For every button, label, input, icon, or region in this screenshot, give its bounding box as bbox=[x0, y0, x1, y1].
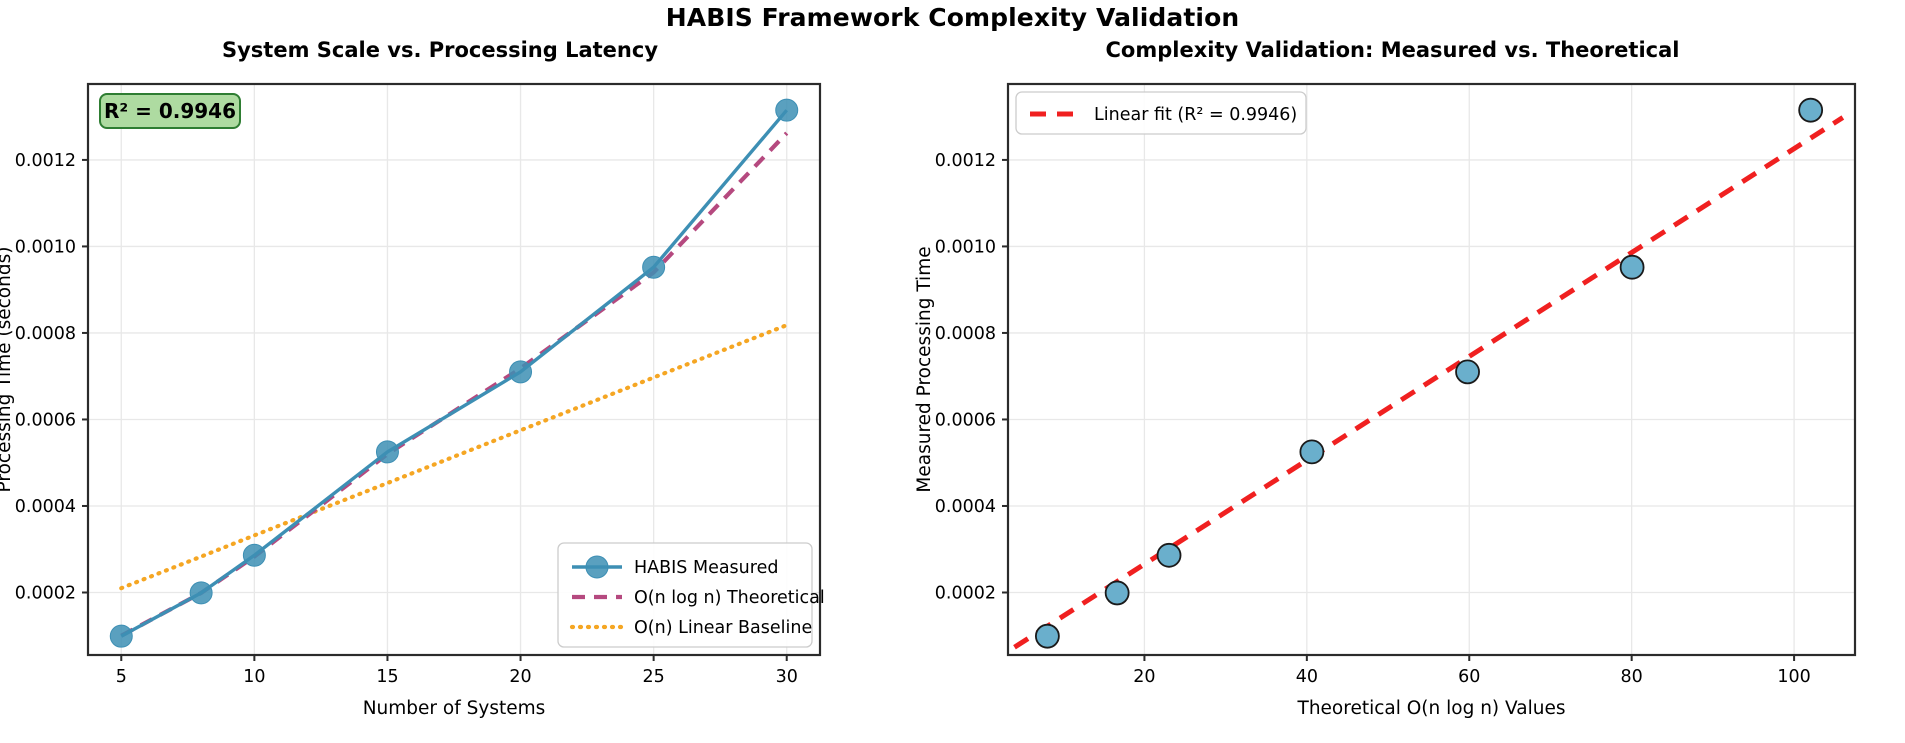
y-tick-label: 0.0006 bbox=[15, 410, 76, 430]
x-tick-label: 40 bbox=[1296, 667, 1318, 687]
figure-suptitle: HABIS Framework Complexity Validation bbox=[0, 0, 1905, 34]
x-tick-label: 80 bbox=[1621, 667, 1643, 687]
x-axis-label: Theoretical O(n log n) Values bbox=[1297, 698, 1566, 719]
y-tick-label: 0.0006 bbox=[935, 410, 996, 430]
legend-label: O(n) Linear Baseline bbox=[634, 618, 812, 638]
left-plot-svg: 510152025300.00020.00040.00060.00080.001… bbox=[0, 34, 880, 743]
x-tick-label: 20 bbox=[1133, 667, 1155, 687]
data-point-marker bbox=[1106, 581, 1129, 604]
y-tick-label: 0.0004 bbox=[935, 497, 996, 517]
legend-label: HABIS Measured bbox=[634, 558, 778, 578]
x-tick-label: 15 bbox=[376, 667, 398, 687]
right-legend: Linear fit (R² = 0.9946) bbox=[1016, 92, 1306, 134]
data-point-marker bbox=[1799, 99, 1822, 122]
y-tick-label: 0.0002 bbox=[15, 583, 76, 603]
right-subplot: Complexity Validation: Measured vs. Theo… bbox=[880, 34, 1905, 743]
data-point-marker bbox=[1158, 544, 1181, 567]
y-tick-label: 0.0008 bbox=[15, 324, 76, 344]
r2-annotation: R² = 0.9946 bbox=[100, 94, 240, 128]
y-tick-label: 0.0002 bbox=[935, 583, 996, 603]
x-tick-label: 20 bbox=[509, 667, 531, 687]
data-point-marker bbox=[1300, 440, 1323, 463]
x-tick-label: 100 bbox=[1777, 667, 1810, 687]
data-point-marker bbox=[1456, 360, 1479, 383]
legend-label: O(n log n) Theoretical bbox=[634, 588, 825, 608]
y-axis-label: Measured Processing Time bbox=[914, 246, 935, 492]
y-tick-label: 0.0012 bbox=[935, 151, 996, 171]
x-tick-label: 25 bbox=[642, 667, 664, 687]
y-tick-label: 0.0010 bbox=[15, 237, 76, 257]
x-tick-label: 10 bbox=[243, 667, 265, 687]
x-tick-label: 30 bbox=[776, 667, 798, 687]
x-tick-label: 5 bbox=[116, 667, 127, 687]
data-point-marker bbox=[243, 544, 265, 566]
r2-annotation-label: R² = 0.9946 bbox=[104, 99, 236, 123]
y-tick-label: 0.0004 bbox=[15, 497, 76, 517]
data-point-marker bbox=[1621, 256, 1644, 279]
x-tick-label: 60 bbox=[1458, 667, 1480, 687]
data-point-marker bbox=[190, 582, 212, 604]
x-axis-label: Number of Systems bbox=[363, 698, 546, 719]
y-tick-label: 0.0012 bbox=[15, 151, 76, 171]
y-axis-label: Processing Time (seconds) bbox=[0, 247, 15, 493]
legend-marker-measured bbox=[586, 556, 608, 578]
left-legend: HABIS MeasuredO(n log n) TheoreticalO(n)… bbox=[558, 543, 825, 647]
data-point-marker bbox=[510, 361, 532, 383]
y-tick-label: 0.0010 bbox=[935, 237, 996, 257]
figure-canvas: HABIS Framework Complexity Validation Sy… bbox=[0, 0, 1905, 743]
data-point-marker bbox=[110, 625, 132, 647]
left-subplot: System Scale vs. Processing Latency 5101… bbox=[0, 34, 880, 743]
right-plot-svg: 204060801000.00020.00040.00060.00080.001… bbox=[880, 34, 1905, 743]
data-point-marker bbox=[643, 256, 665, 278]
y-tick-label: 0.0008 bbox=[935, 324, 996, 344]
data-point-marker bbox=[776, 99, 798, 121]
data-point-marker bbox=[1036, 625, 1059, 648]
legend-label: Linear fit (R² = 0.9946) bbox=[1094, 105, 1297, 125]
data-point-marker bbox=[376, 441, 398, 463]
